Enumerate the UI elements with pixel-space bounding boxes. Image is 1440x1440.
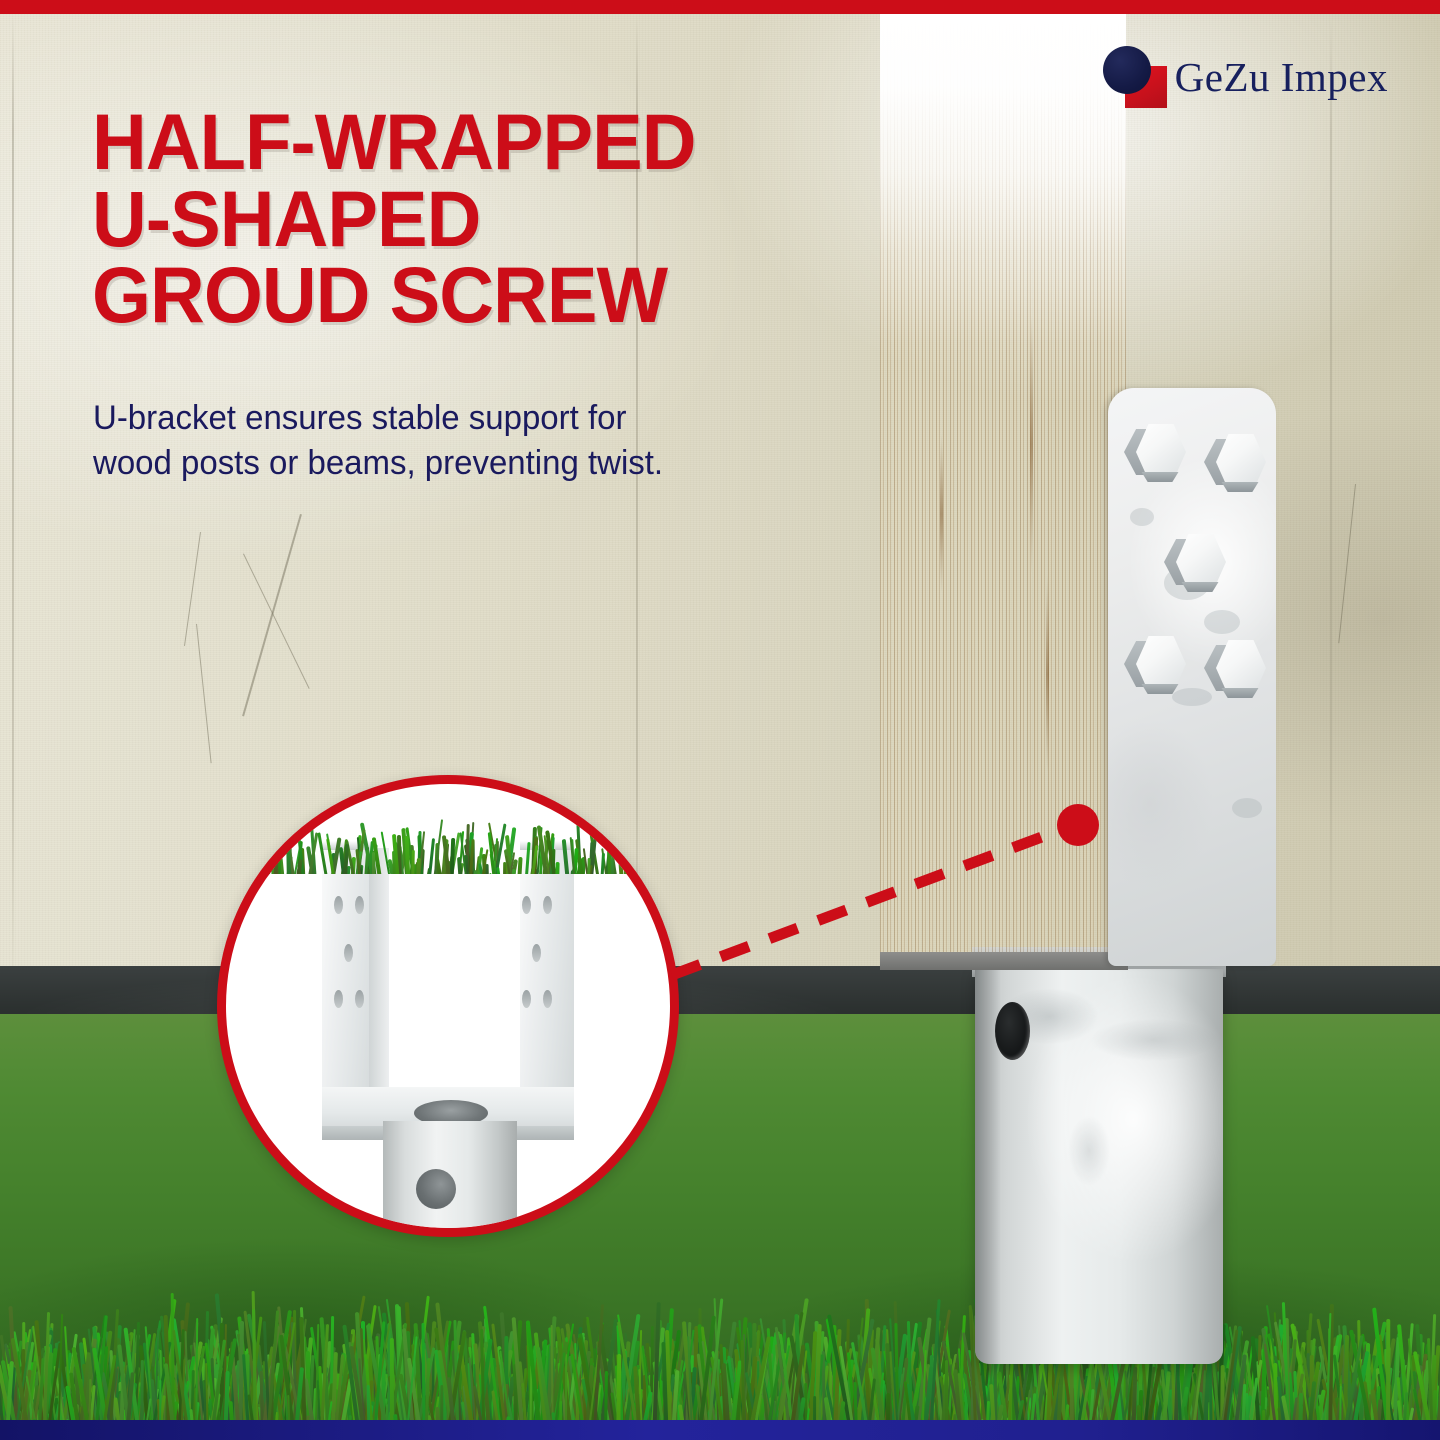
wood-post-bottom-edge	[880, 952, 1128, 970]
bottom-accent-bar	[0, 1420, 1440, 1440]
wood-highlight-fade	[880, 14, 1126, 344]
inset-stage	[226, 784, 670, 1228]
hex-bolt	[1204, 434, 1266, 490]
grass-blade	[813, 1396, 816, 1420]
grass-blade	[389, 1338, 393, 1420]
u-bracket-left-inner-face	[369, 848, 389, 1096]
grass-blade	[372, 852, 376, 874]
ground-screw-bolt-hole	[995, 1002, 1030, 1060]
wood-post-assembly	[858, 14, 1278, 974]
grass-blade	[555, 862, 559, 874]
bracket-bolt-hole	[543, 990, 552, 1008]
grass-blade	[945, 1360, 948, 1420]
subtitle-line-2: wood posts or beams, preventing twist.	[93, 441, 663, 486]
hex-bolt	[1124, 636, 1186, 692]
top-accent-bar	[0, 0, 1440, 14]
logo-circle-icon	[1103, 46, 1151, 94]
headline-line-2: U-SHAPED	[92, 181, 696, 258]
ground-screw-sleeve	[975, 969, 1223, 1364]
u-bracket-left-leg	[322, 848, 376, 1096]
hex-bolt	[1204, 640, 1266, 696]
marketing-banner: HALF-WRAPPED U-SHAPED GROUD SCREW U-brac…	[0, 0, 1440, 1440]
inset-sleeve-bolt-hole	[416, 1169, 456, 1209]
logo-mark-icon	[1103, 46, 1165, 108]
wall-seam	[12, 14, 14, 989]
grass-blade	[551, 849, 555, 874]
grass-blade	[624, 862, 627, 874]
brand-logo: GeZu Impex	[1103, 46, 1388, 108]
bracket-bolt-hole	[355, 990, 364, 1008]
grass-blade	[587, 858, 591, 874]
headline-line-1: HALF-WRAPPED	[92, 104, 696, 181]
grass-foreground	[0, 1244, 1440, 1420]
wood-knot	[1046, 574, 1049, 774]
wood-post	[880, 14, 1126, 966]
grass-blade	[440, 1385, 444, 1420]
hex-bolt	[1164, 534, 1226, 590]
grass-blade	[604, 1371, 608, 1420]
grass-blade	[416, 858, 421, 874]
grass-blade	[496, 867, 503, 874]
bracket-bolt-hole	[344, 944, 353, 962]
galvanized-plate	[1108, 388, 1276, 966]
wood-knot	[940, 434, 943, 594]
wall-seam	[1330, 14, 1332, 989]
bracket-bolt-hole	[334, 990, 343, 1008]
grass-blade	[565, 1354, 567, 1420]
u-bracket-right-leg	[520, 848, 574, 1096]
hex-bolt	[1124, 424, 1186, 480]
subtitle-line-1: U-bracket ensures stable support for	[93, 396, 663, 441]
inset-grass	[217, 784, 679, 874]
brand-name: GeZu Impex	[1175, 53, 1388, 101]
u-bracket	[322, 848, 574, 1133]
bracket-bolt-hole	[522, 990, 531, 1008]
u-bracket-closeup-inset	[217, 775, 679, 1237]
grass-blade	[1298, 1393, 1303, 1420]
page-title: HALF-WRAPPED U-SHAPED GROUD SCREW	[92, 104, 696, 334]
grass-blade	[1386, 1319, 1390, 1420]
grass-blade	[140, 1359, 144, 1420]
grass-blade	[886, 1393, 890, 1420]
headline-line-3: GROUD SCREW	[92, 257, 696, 334]
bracket-bolt-hole	[334, 896, 343, 914]
bracket-bolt-hole	[543, 896, 552, 914]
grass-blade	[517, 857, 522, 874]
bracket-bolt-hole	[532, 944, 541, 962]
bracket-bolt-hole	[355, 896, 364, 914]
wood-knot	[1030, 314, 1033, 574]
subtitle: U-bracket ensures stable support for woo…	[93, 396, 663, 486]
grass-blade	[616, 1354, 621, 1420]
grass-blade	[524, 842, 531, 874]
bracket-bolt-hole	[522, 896, 531, 914]
inset-ground-screw-sleeve	[383, 1121, 517, 1237]
